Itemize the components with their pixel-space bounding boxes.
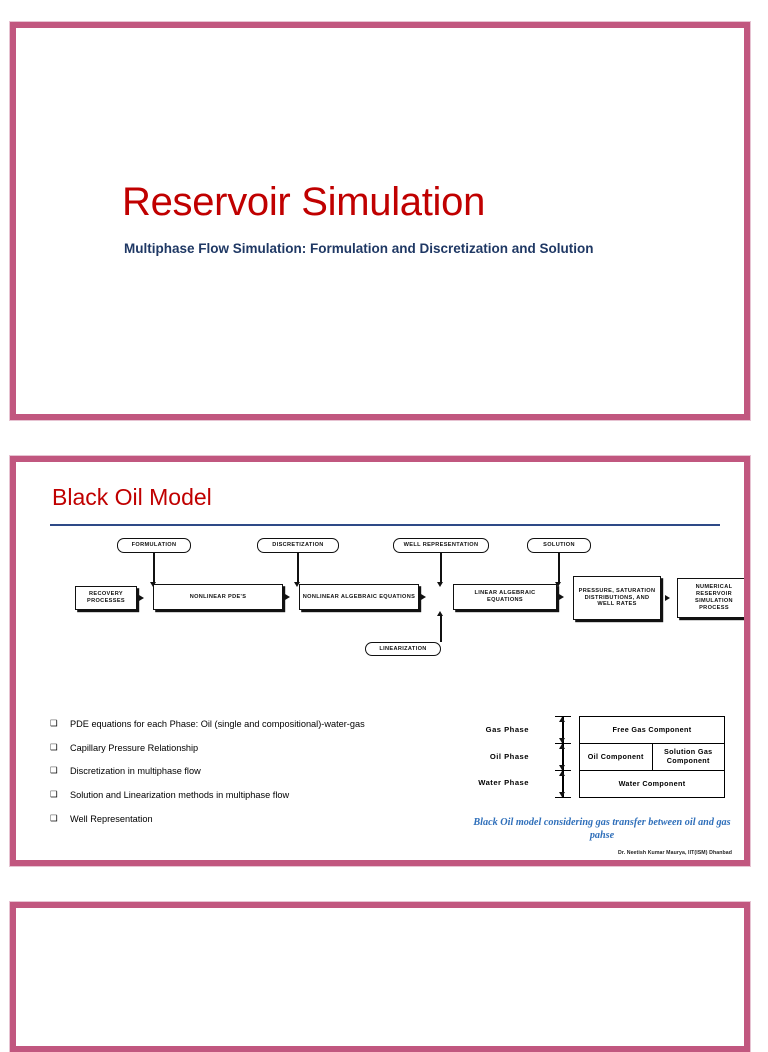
- arrow-well-representation: [437, 582, 443, 587]
- diagram-box-nonlinear-pdes: NONLINEAR PDE'S: [153, 584, 283, 610]
- diagram-box-discretization: DISCRETIZATION: [257, 538, 339, 553]
- heading-divider: [50, 524, 720, 526]
- connector-well-representation: [440, 553, 442, 583]
- list-item: ❑ Discretization in multiphase flow: [50, 765, 390, 778]
- arrow-nonlinear-to-linear: [421, 594, 426, 600]
- arrow-pressure-to-numerical: [665, 595, 670, 601]
- phase-label-oil: Oil Phase: [457, 752, 529, 761]
- brace-arrow-oil-top: [559, 744, 565, 749]
- connector-discretization: [297, 553, 299, 583]
- table-cell-oil-component: Oil Component: [580, 744, 652, 770]
- diagram-box-pressure-saturation-well-rates: PRESSURE, SATURATION DISTRIBUTIONS, AND …: [573, 576, 661, 620]
- table-row: Water Component: [580, 771, 724, 797]
- brace-arrow-water-top: [559, 771, 565, 776]
- square-bullet-icon: ❑: [50, 742, 70, 754]
- diagram-box-recovery-processes: RECOVERY PROCESSES: [75, 586, 137, 610]
- phase-component-figure: Gas Phase Oil Phase Water Phase: [475, 716, 725, 798]
- list-item: ❑ Well Representation: [50, 813, 390, 826]
- diagram-box-well-representation: WELL REPRESENTATION: [393, 538, 489, 553]
- slide-black-oil-model-inner: Black Oil Model FORMULATION DISCRETIZATI…: [19, 465, 741, 857]
- slide-blank: [10, 902, 750, 1052]
- page-title: Reservoir Simulation: [122, 180, 485, 225]
- list-item-label: Solution and Linearization methods in mu…: [70, 789, 390, 802]
- table-row: Oil Component Solution Gas Component: [580, 744, 724, 771]
- list-item: ❑ Capillary Pressure Relationship: [50, 742, 390, 755]
- diagram-box-linearization: LINEARIZATION: [365, 642, 441, 656]
- square-bullet-icon: ❑: [50, 789, 70, 801]
- brace-arrow-bottom: [559, 792, 565, 797]
- slide-black-oil-model: Black Oil Model FORMULATION DISCRETIZATI…: [10, 456, 750, 866]
- component-table: Free Gas Component Oil Component Solutio…: [579, 716, 725, 798]
- connector-linearization: [440, 616, 442, 642]
- table-cell-free-gas-component: Free Gas Component: [580, 717, 724, 743]
- square-bullet-icon: ❑: [50, 765, 70, 777]
- table-cell-water-component: Water Component: [580, 771, 724, 797]
- page-subtitle: Multiphase Flow Simulation: Formulation …: [124, 239, 644, 258]
- slide-blank-inner: [19, 911, 741, 1043]
- brace-arrow-gas-oil-up: [559, 738, 565, 743]
- phase-label-water: Water Phase: [457, 778, 529, 787]
- diagram-box-nonlinear-algebraic-equations: NONLINEAR ALGEBRAIC EQUATIONS: [299, 584, 419, 610]
- brace-arrow-oil-bottom: [559, 765, 565, 770]
- phase-brace: [555, 716, 571, 798]
- phase-label-gas: Gas Phase: [457, 725, 529, 734]
- list-item-label: Capillary Pressure Relationship: [70, 742, 390, 755]
- list-item: ❑ Solution and Linearization methods in …: [50, 789, 390, 802]
- diagram-box-numerical-reservoir-simulation-process: NUMERICAL RESERVOIR SIMULATION PROCESS: [677, 578, 750, 618]
- diagram-box-solution: SOLUTION: [527, 538, 591, 553]
- bullet-list: ❑ PDE equations for each Phase: Oil (sin…: [50, 718, 390, 825]
- list-item: ❑ PDE equations for each Phase: Oil (sin…: [50, 718, 390, 731]
- diagram-box-linear-algebraic-equations: LINEAR ALGEBRAIC EQUATIONS: [453, 584, 557, 610]
- list-item-label: Well Representation: [70, 813, 390, 826]
- arrow-recovery-to-pde: [139, 595, 144, 601]
- figure-caption: Black Oil model considering gas transfer…: [472, 816, 732, 843]
- table-cell-solution-gas-component: Solution Gas Component: [652, 744, 725, 770]
- arrow-linearization: [437, 611, 443, 616]
- slide-title: Reservoir Simulation Multiphase Flow Sim…: [10, 22, 750, 420]
- diagram-box-formulation: FORMULATION: [117, 538, 191, 553]
- brace-arrow-top: [559, 717, 565, 722]
- simulation-workflow-diagram: FORMULATION DISCRETIZATION WELL REPRESEN…: [75, 538, 715, 663]
- connector-solution: [558, 553, 560, 583]
- footer-attribution: Dr. Neetish Kumar Maurya, IIT(ISM) Dhanb…: [472, 850, 732, 856]
- square-bullet-icon: ❑: [50, 813, 70, 825]
- brace-tick-bottom: [555, 797, 571, 798]
- list-item-label: PDE equations for each Phase: Oil (singl…: [70, 718, 390, 731]
- connector-formulation: [153, 553, 155, 583]
- square-bullet-icon: ❑: [50, 718, 70, 730]
- slide-heading: Black Oil Model: [52, 484, 212, 511]
- slide-title-inner: Reservoir Simulation Multiphase Flow Sim…: [19, 31, 741, 411]
- list-item-label: Discretization in multiphase flow: [70, 765, 390, 778]
- arrow-linear-to-pressure: [559, 594, 564, 600]
- table-row: Free Gas Component: [580, 717, 724, 744]
- arrow-pde-to-nonlinear-alg: [285, 594, 290, 600]
